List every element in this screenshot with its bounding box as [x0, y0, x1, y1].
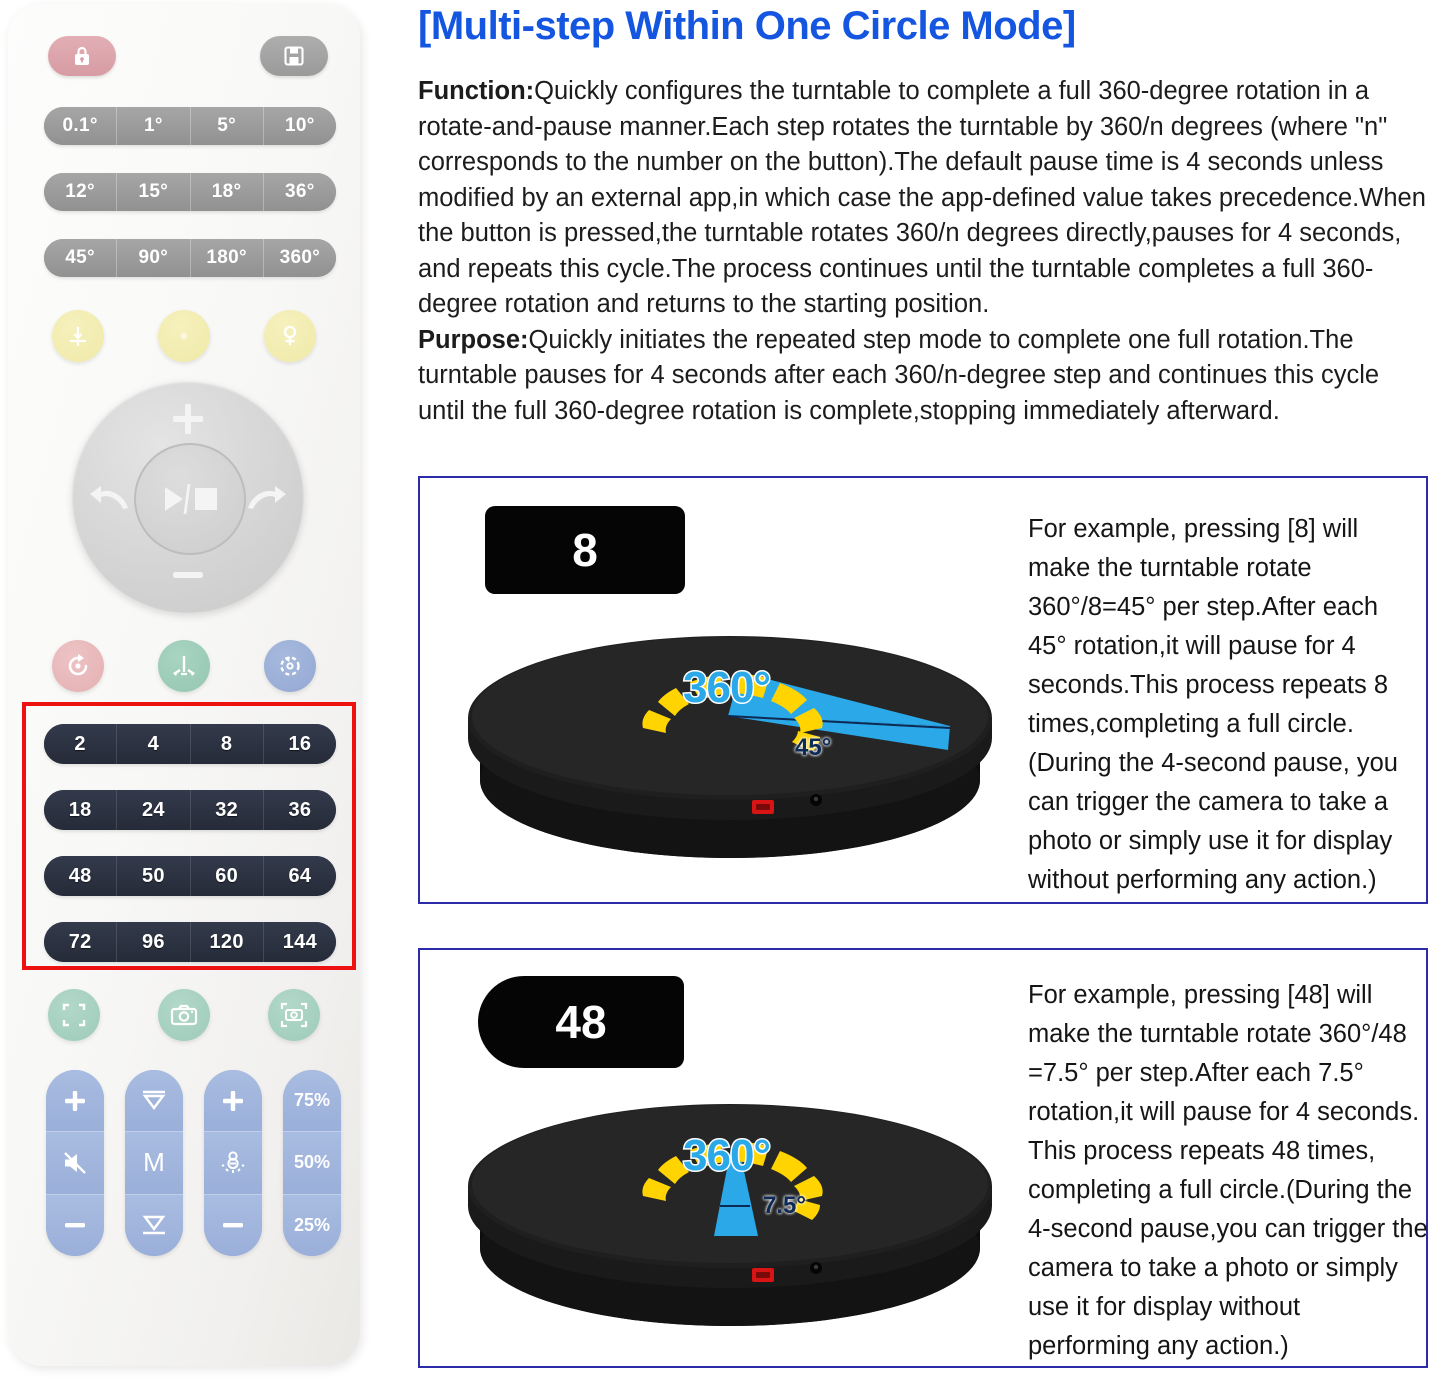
turntable-illustration-48: 360° 7.5°: [450, 1088, 1010, 1338]
example-badge: 8: [485, 506, 685, 594]
turntable-360-label: 360°: [683, 1131, 770, 1181]
key-icon: [277, 323, 303, 349]
turntable-360-label: 360°: [683, 663, 770, 713]
number-button[interactable]: 50: [117, 856, 190, 896]
example-badge: 48: [478, 976, 684, 1068]
example-text: For example, pressing [48] will make the…: [1028, 976, 1428, 1366]
number-button[interactable]: 18: [44, 790, 117, 830]
number-button[interactable]: 16: [264, 724, 336, 764]
speed-50-button[interactable]: 50%: [283, 1132, 341, 1194]
top-icon: [139, 1088, 169, 1114]
save-icon: [282, 44, 306, 68]
focus-frame-icon: [60, 1001, 88, 1029]
focus-frame-button[interactable]: [48, 989, 100, 1041]
angle-row-3[interactable]: 45° 90° 180° 360°: [44, 239, 336, 277]
camera-frame-button[interactable]: [268, 989, 320, 1041]
description-block: Function:Quickly configures the turntabl…: [418, 74, 1430, 429]
volume-bar[interactable]: [46, 1070, 104, 1256]
rotate-left-icon: [88, 481, 132, 517]
turntable-illustration-8: 360° 45°: [450, 620, 1010, 870]
key-button[interactable]: [264, 310, 316, 362]
orbit-button[interactable]: [264, 640, 316, 692]
speed-75-button[interactable]: 75%: [283, 1070, 341, 1132]
number-row-1[interactable]: 2 4 8 16: [44, 724, 336, 764]
number-row-4[interactable]: 72 96 120 144: [44, 922, 336, 962]
number-button[interactable]: 24: [117, 790, 190, 830]
purpose-text: Quickly initiates the repeated step mode…: [418, 326, 1379, 425]
orbit-icon: [276, 652, 304, 680]
angle-button[interactable]: 90°: [117, 239, 190, 277]
turntable-angle-label: 45°: [795, 734, 831, 762]
mute-button[interactable]: [46, 1132, 104, 1194]
light-down-button[interactable]: [204, 1195, 262, 1256]
angle-button[interactable]: 360°: [264, 239, 336, 277]
turntable-graphic: [450, 1088, 1010, 1338]
angle-button[interactable]: 36°: [264, 173, 336, 211]
light-down-icon: [65, 323, 91, 349]
camera-button[interactable]: [158, 989, 210, 1041]
lock-icon: [71, 44, 93, 68]
number-button[interactable]: 8: [191, 724, 264, 764]
bottom-icon: [139, 1212, 169, 1238]
number-button[interactable]: 120: [191, 922, 264, 962]
save-button[interactable]: [260, 36, 328, 76]
plus-icon: [62, 1088, 88, 1114]
light-down-button[interactable]: [52, 310, 104, 362]
memory-bottom-button[interactable]: [125, 1195, 183, 1256]
purpose-label: Purpose:: [418, 326, 529, 354]
play-stop-icon: [155, 482, 225, 516]
number-button[interactable]: 36: [264, 790, 336, 830]
angle-button[interactable]: 0.1°: [44, 107, 117, 145]
minus-icon: [62, 1218, 88, 1232]
light-up-button[interactable]: [204, 1070, 262, 1132]
remote-control-panel: 0.1° 1° 5° 10° 12° 15° 18° 36° 45° 90° 1…: [0, 0, 400, 1380]
angle-row-2[interactable]: 12° 15° 18° 36°: [44, 173, 336, 211]
minus-icon: [168, 565, 208, 585]
volume-up-button[interactable]: [46, 1070, 104, 1132]
dot-button[interactable]: [158, 310, 210, 362]
angle-button[interactable]: 15°: [117, 173, 190, 211]
memory-bar[interactable]: M: [125, 1070, 183, 1256]
example-box-48: 48: [418, 948, 1428, 1368]
camera-icon: [169, 1001, 199, 1029]
memory-m-button[interactable]: M: [125, 1132, 183, 1194]
minus-icon: [220, 1218, 246, 1232]
center-align-button[interactable]: [158, 640, 210, 692]
play-stop-button[interactable]: [134, 443, 246, 555]
angle-button[interactable]: 1°: [117, 107, 190, 145]
number-row-2[interactable]: 18 24 32 36: [44, 790, 336, 830]
plus-icon: [220, 1088, 246, 1114]
function-text: Quickly configures the turntable to comp…: [418, 77, 1426, 318]
angle-button[interactable]: 180°: [191, 239, 264, 277]
number-button[interactable]: 60: [191, 856, 264, 896]
mute-icon: [61, 1150, 89, 1176]
volume-down-button[interactable]: [46, 1195, 104, 1256]
rotate-right-icon: [244, 481, 288, 517]
angle-button[interactable]: 10°: [264, 107, 336, 145]
number-row-3[interactable]: 48 50 60 64: [44, 856, 336, 896]
number-button[interactable]: 144: [264, 922, 336, 962]
angle-button[interactable]: 5°: [191, 107, 264, 145]
dpad-rotate-left-button[interactable]: [88, 477, 132, 521]
reset-rotation-icon: [64, 652, 92, 680]
speed-25-button[interactable]: 25%: [283, 1195, 341, 1256]
angle-button[interactable]: 18°: [191, 173, 264, 211]
content-panel: [Multi-step Within One Circle Mode] Func…: [400, 0, 1445, 1380]
angle-row-1[interactable]: 0.1° 1° 5° 10°: [44, 107, 336, 145]
function-label: Function:: [418, 77, 534, 105]
number-button[interactable]: 72: [44, 922, 117, 962]
number-button[interactable]: 4: [117, 724, 190, 764]
camera-frame-icon: [279, 1001, 309, 1029]
center-align-icon: [170, 652, 198, 680]
example-text: For example, pressing [8] will make the …: [1028, 510, 1423, 900]
example-box-8: 8: [418, 476, 1428, 904]
number-button[interactable]: 64: [264, 856, 336, 896]
angle-button[interactable]: 45°: [44, 239, 117, 277]
dpad-control[interactable]: [72, 381, 304, 613]
memory-top-button[interactable]: [125, 1070, 183, 1132]
number-button[interactable]: 96: [117, 922, 190, 962]
dpad-minus-button[interactable]: [168, 559, 208, 591]
turntable-graphic: [450, 620, 1010, 870]
page-title: [Multi-step Within One Circle Mode]: [418, 4, 1076, 49]
remote-body: 0.1° 1° 5° 10° 12° 15° 18° 36° 45° 90° 1…: [8, 4, 360, 1366]
number-button[interactable]: 32: [191, 790, 264, 830]
number-button[interactable]: 48: [44, 856, 117, 896]
number-button[interactable]: 2: [44, 724, 117, 764]
speed-bar[interactable]: 75% 50% 25%: [283, 1070, 341, 1256]
dpad-plus-button[interactable]: [168, 399, 208, 439]
light-bar[interactable]: [204, 1070, 262, 1256]
angle-button[interactable]: 12°: [44, 173, 117, 211]
dpad-rotate-right-button[interactable]: [244, 477, 288, 521]
reset-rotation-button[interactable]: [52, 640, 104, 692]
bulb-button[interactable]: [204, 1132, 262, 1194]
turntable-angle-label: 7.5°: [763, 1192, 806, 1220]
lock-button[interactable]: [48, 36, 116, 76]
plus-icon: [168, 399, 208, 439]
bulb-icon: [219, 1149, 247, 1177]
dot-icon: [176, 328, 192, 344]
